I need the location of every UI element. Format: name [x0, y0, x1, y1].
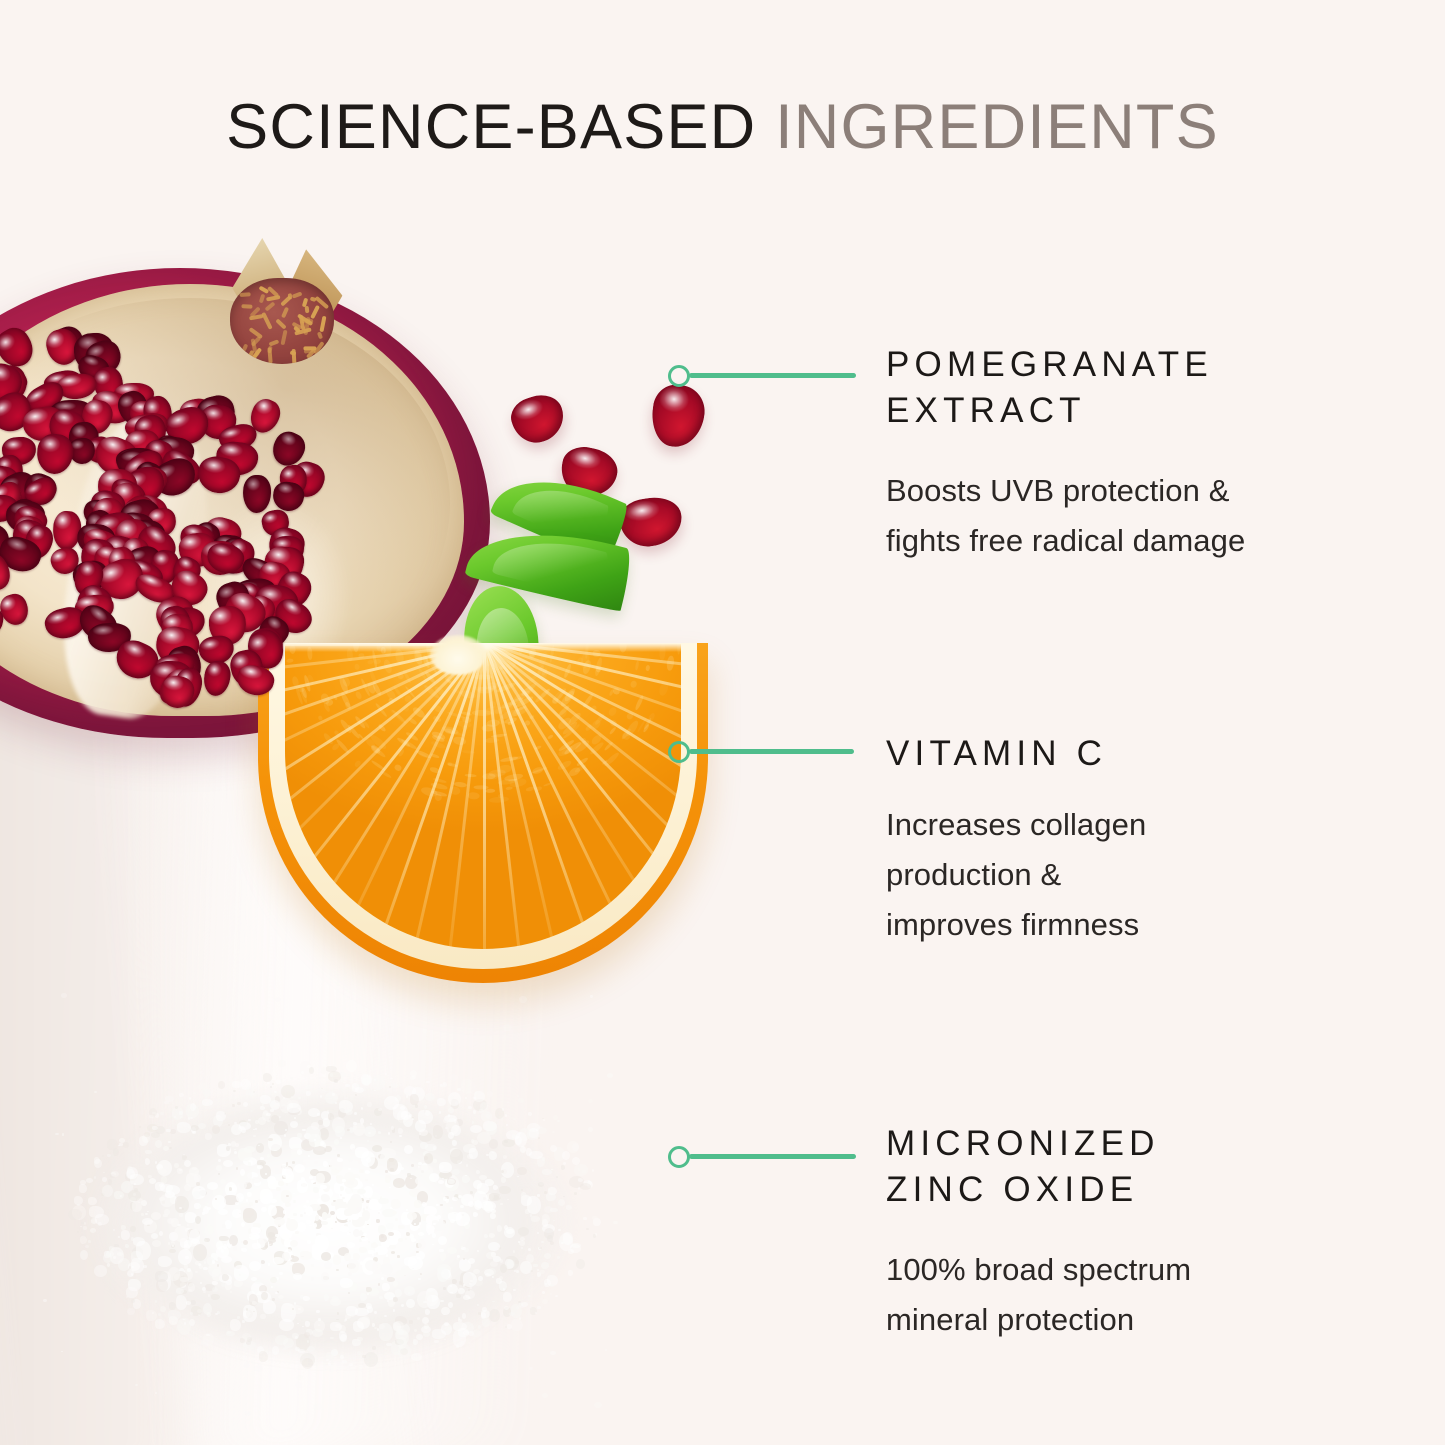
callout-body-pomegranate: Boosts UVB protection & fights free radi…	[886, 466, 1376, 566]
callout-body-zinc-oxide: 100% broad spectrum mineral protection	[886, 1245, 1356, 1345]
leader-line-icon	[689, 749, 854, 754]
callout-heading-pomegranate: POMEGRANATE EXTRACT	[886, 342, 1356, 434]
page-title-secondary: INGREDIENTS	[775, 92, 1219, 162]
page-title: SCIENCE-BASED INGREDIENTS	[0, 96, 1445, 159]
zinc-oxide-powder-photo	[40, 990, 640, 1420]
callout-heading-zinc-oxide: MICRONIZED ZINC OXIDE	[886, 1121, 1356, 1213]
callout-heading-vitamin-c: VITAMIN C	[886, 731, 1356, 777]
ingredients-infographic: SCIENCE-BASED INGREDIENTS	[0, 0, 1445, 1445]
leader-line-icon	[689, 373, 856, 378]
pomegranate-seeds-photo	[648, 382, 708, 451]
pomegranate-seeds-photo	[617, 494, 685, 550]
leader-line-icon	[689, 1154, 856, 1159]
circle-marker-icon	[668, 365, 690, 387]
circle-marker-icon	[668, 741, 690, 763]
orange-slice-photo	[258, 643, 708, 983]
page-title-emphasis: SCIENCE-BASED	[226, 92, 775, 162]
circle-marker-icon	[668, 1146, 690, 1168]
callout-body-vitamin-c: Increases collagen production & improves…	[886, 800, 1316, 951]
pomegranate-crown	[222, 234, 362, 364]
pomegranate-seeds-photo	[506, 389, 570, 449]
